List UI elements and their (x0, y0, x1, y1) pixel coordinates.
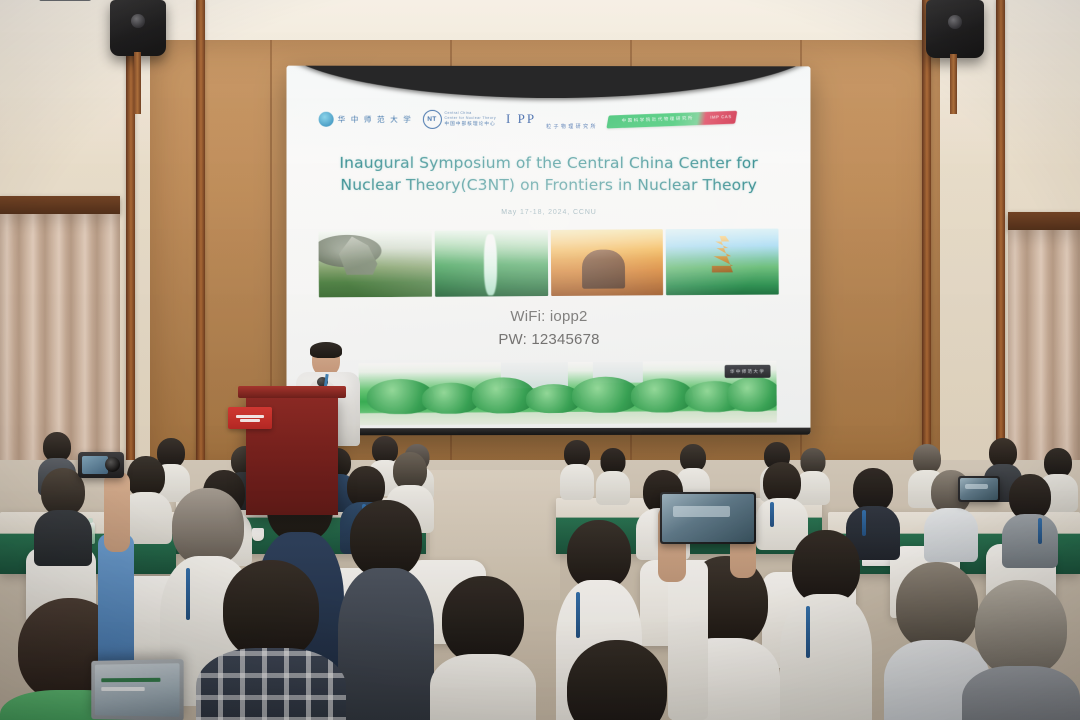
wifi-ssid: WiFi: iopp2 (286, 306, 810, 329)
ceiling-speaker-right (926, 0, 984, 58)
c3nt-logo: NT Central China Center for Nuclear Theo… (422, 109, 496, 128)
slide-title: Inaugural Symposium of the Central China… (286, 152, 810, 196)
photo-golden-temple (550, 229, 663, 296)
slide-date: May 17-18, 2024, CCNU (286, 209, 810, 216)
speaker-stem-right (950, 54, 957, 114)
slide-title-line2: Nuclear Theory(C3NT) on Frontiers in Nuc… (286, 174, 810, 196)
attendee (962, 580, 1080, 720)
wood-trim-right-b (996, 0, 1005, 470)
phone-recording-center[interactable] (660, 492, 756, 544)
campus-photo-label-text: 华中师范大学 (730, 368, 765, 374)
partner-banner-text: 中国科学院近代物理研究所 (621, 115, 694, 124)
lectern-top (238, 386, 346, 398)
attendee (780, 530, 872, 720)
campus-photo-label: 华中师范大学 (725, 365, 771, 378)
wood-trim-left-b (196, 0, 205, 470)
iopp-logo-text: I PP (506, 111, 536, 127)
photo-waterfall-green (434, 230, 547, 297)
laptop-screen (95, 663, 180, 717)
nt-ring-icon: NT (422, 109, 441, 128)
attendee (596, 448, 630, 504)
screen-bottom-frame (286, 428, 810, 436)
slide-photo-strip (318, 229, 778, 298)
wifi-password: PW: 12345678 (286, 328, 810, 351)
attendee (1002, 474, 1058, 566)
c3nt-line2: Center for Nuclear Theory (444, 116, 496, 120)
tablet-right[interactable] (958, 476, 1000, 502)
ccnu-emblem-icon (319, 111, 334, 126)
attendee (338, 500, 434, 720)
photo-yellow-crane-tower (666, 229, 779, 296)
campus-panorama: 华中师范大学 (359, 361, 777, 426)
attendee (196, 560, 346, 720)
lectern-laptop (39, 0, 93, 1)
valance-right (1008, 212, 1080, 230)
screen-surface: 华 中 师 范 大 学 NT Central China Center for … (286, 66, 810, 436)
plaid-shirt (196, 648, 346, 720)
wifi-info: WiFi: iopp2 PW: 12345678 (286, 306, 810, 351)
c3nt-line3: 中国中部核理论中心 (444, 121, 496, 127)
attendee (552, 640, 682, 720)
presentation-slide: 华 中 师 范 大 学 NT Central China Center for … (286, 66, 810, 436)
camera-lens-icon (105, 457, 120, 472)
conference-photo: 华 中 师 范 大 学 NT Central China Center for … (0, 0, 1080, 720)
lectern-sign (228, 407, 272, 429)
tablet-screen (960, 478, 998, 500)
ceiling-speaker-left (110, 0, 166, 56)
c3nt-logo-text: Central China Center for Nuclear Theory … (444, 111, 496, 127)
ccnu-logo: 华 中 师 范 大 学 (319, 111, 413, 126)
wood-trim-right-a (922, 0, 931, 470)
curtain-right (1008, 230, 1080, 470)
attendee (560, 440, 594, 498)
partner-banner-logo: 中国科学院近代物理研究所 IMP CAS (606, 110, 737, 128)
phone-screen (662, 494, 754, 542)
camera-recording-left (78, 452, 124, 478)
speaker-stem-left (134, 52, 141, 114)
raised-arm (104, 472, 130, 552)
photo-mountain-rocks (318, 231, 431, 298)
ccnu-logo-text: 华 中 师 范 大 学 (338, 113, 413, 124)
raised-arm-sleeve (668, 560, 708, 720)
c3nt-line1: Central China (444, 111, 496, 115)
projection-screen: 华 中 师 范 大 学 NT Central China Center for … (286, 66, 810, 436)
slide-logo-row: 华 中 师 范 大 学 NT Central China Center for … (319, 106, 779, 132)
attendee (34, 468, 92, 562)
slide-title-line1: Inaugural Symposium of the Central China… (286, 152, 810, 174)
partner-banner-right: IMP CAS (710, 113, 732, 119)
lectern (246, 393, 338, 515)
valance-left (0, 196, 120, 214)
laptop-front-row[interactable] (91, 659, 183, 720)
speaker-cone-right (948, 15, 962, 29)
attendee (430, 576, 536, 720)
presenter-hair (310, 342, 342, 358)
speaker-cone-left (131, 14, 145, 28)
iopp-logo-sub: 粒子物理研究所 (546, 123, 598, 130)
